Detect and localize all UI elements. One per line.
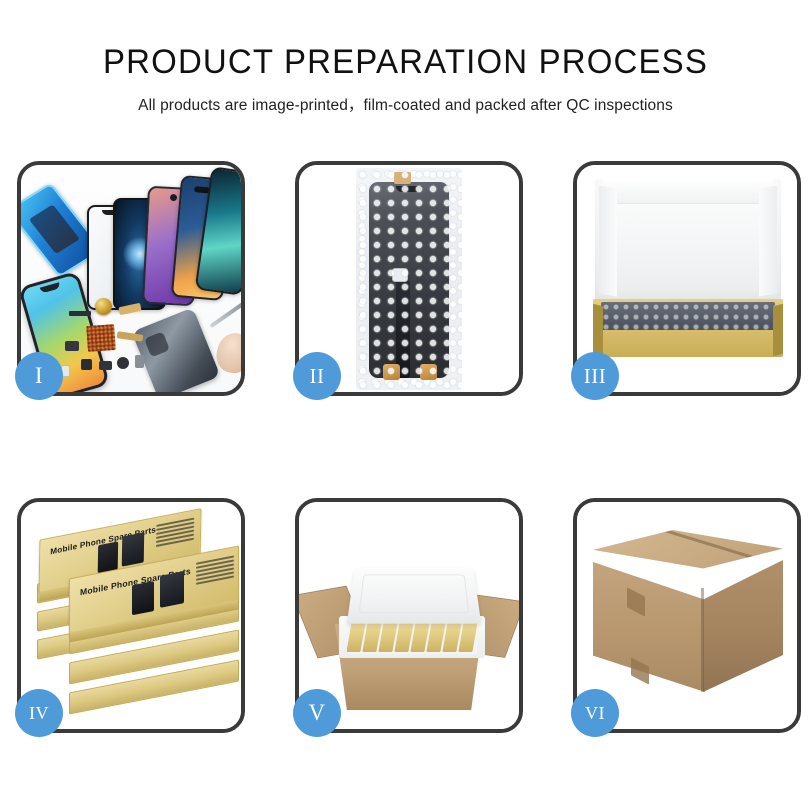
step-badge-5: V <box>293 689 341 737</box>
gold-box-tray-icon <box>593 299 783 357</box>
foam-box-lid-icon <box>347 568 481 624</box>
chip-part-icon <box>81 359 92 370</box>
foam-box-interior-icon <box>347 620 477 654</box>
carton-left-face-icon <box>593 562 705 692</box>
copper-mesh-part-icon <box>86 324 116 352</box>
open-carton-icon <box>313 560 505 710</box>
bubble-wrap-bag-icon <box>356 168 462 390</box>
carton-right-face-icon <box>703 560 783 692</box>
sealed-carton-icon <box>593 530 783 702</box>
step-badge-4: IV <box>15 689 63 737</box>
connector-icon <box>392 268 408 282</box>
step-badge-6: VI <box>571 689 619 737</box>
box-product-photo-icon <box>132 581 154 615</box>
step-badge-2: II <box>293 352 341 400</box>
step-badge-1: I <box>15 352 63 400</box>
box-product-photo-icon <box>160 571 184 608</box>
speaker-part-icon <box>117 357 129 369</box>
tape-icon <box>394 172 411 184</box>
bubble-wrapped-contents-icon <box>601 302 775 330</box>
header: PRODUCT PREPARATION PROCESS All products… <box>0 42 811 115</box>
gold-box-stack-icon: Mobile Phone Spare Parts Mobile Phone Sp… <box>27 520 239 718</box>
page-subtitle: All products are image-printed，film-coat… <box>0 93 811 115</box>
phone-back-housing-icon <box>132 307 221 392</box>
process-step-panel-6[interactable]: VI <box>573 498 801 733</box>
process-step-grid: I II <box>17 161 797 733</box>
step-badge-3: III <box>571 352 619 400</box>
chip-part-icon <box>99 361 112 370</box>
tray-end-right-icon <box>773 304 783 356</box>
carton-seam-icon <box>622 516 766 563</box>
chip-part-icon <box>69 311 91 316</box>
lid-flap-right-icon <box>759 185 777 296</box>
gold-coil-part-icon <box>95 298 112 315</box>
connector-icon <box>383 364 400 380</box>
box-product-photo-icon <box>122 532 145 566</box>
box-spec-lines-icon <box>196 555 234 586</box>
product-preparation-infographic: PRODUCT PREPARATION PROCESS All products… <box>0 0 811 811</box>
battery-connector-part-icon <box>135 355 144 368</box>
tweezers-icon <box>209 302 241 328</box>
page-title: PRODUCT PREPARATION PROCESS <box>12 42 799 83</box>
white-box-lid-icon <box>595 179 781 307</box>
tray-end-left-icon <box>593 304 603 356</box>
process-step-panel-2[interactable]: II <box>295 161 523 396</box>
packed-gold-boxes-icon <box>349 622 475 652</box>
box-spec-lines-icon <box>156 518 194 549</box>
lid-flap-left-icon <box>599 185 617 296</box>
process-step-panel-4[interactable]: Mobile Phone Spare Parts Mobile Phone Sp… <box>17 498 245 733</box>
process-step-panel-5[interactable]: V <box>295 498 523 733</box>
carton-edge-icon <box>701 588 704 692</box>
chip-part-icon <box>65 341 79 351</box>
process-step-panel-3[interactable]: III <box>573 161 801 396</box>
process-step-panel-1[interactable]: I <box>17 161 245 396</box>
connector-icon <box>420 364 437 380</box>
